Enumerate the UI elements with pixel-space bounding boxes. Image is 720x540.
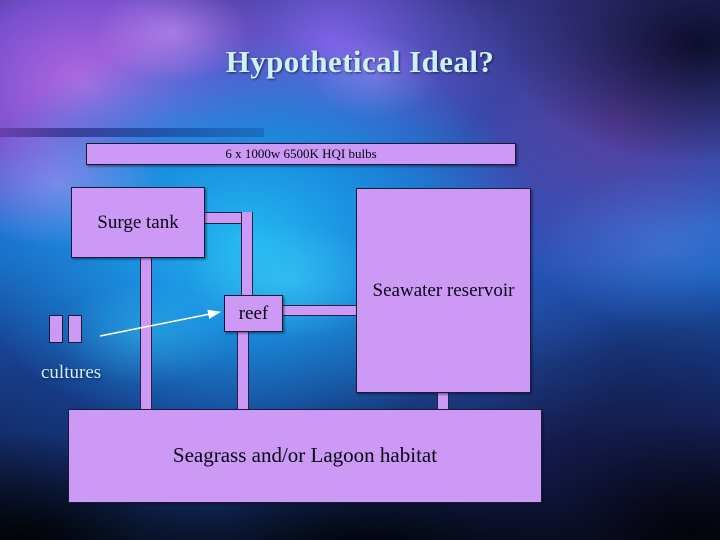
pipe-reef-to-reservoir: [281, 305, 359, 316]
pipe-reservoir-to-habitat: [437, 391, 449, 411]
culture-vessel-2: [68, 315, 82, 343]
node-surge-tank: Surge tank: [71, 187, 205, 258]
node-seagrass-lagoon-habitat: Seagrass and/or Lagoon habitat: [68, 409, 542, 503]
node-seawater-reservoir: Seawater reservoir: [356, 188, 531, 393]
cultures-label: cultures: [41, 362, 101, 384]
pipe-reef-to-habitat: [237, 328, 249, 411]
slide-title: Hypothetical Ideal?: [0, 44, 720, 80]
node-reef: reef: [224, 295, 283, 332]
lighting-bar: 6 x 1000w 6500K HQI bulbs: [86, 143, 516, 165]
pipe-surge-tank-to-reef-vertical: [241, 212, 253, 298]
slide-canvas: Hypothetical Ideal? 6 x 1000w 6500K HQI …: [0, 0, 720, 540]
title-underline-rule: [0, 128, 264, 137]
pipe-surge-tank-to-habitat: [140, 256, 152, 411]
culture-vessel-1: [49, 315, 63, 343]
